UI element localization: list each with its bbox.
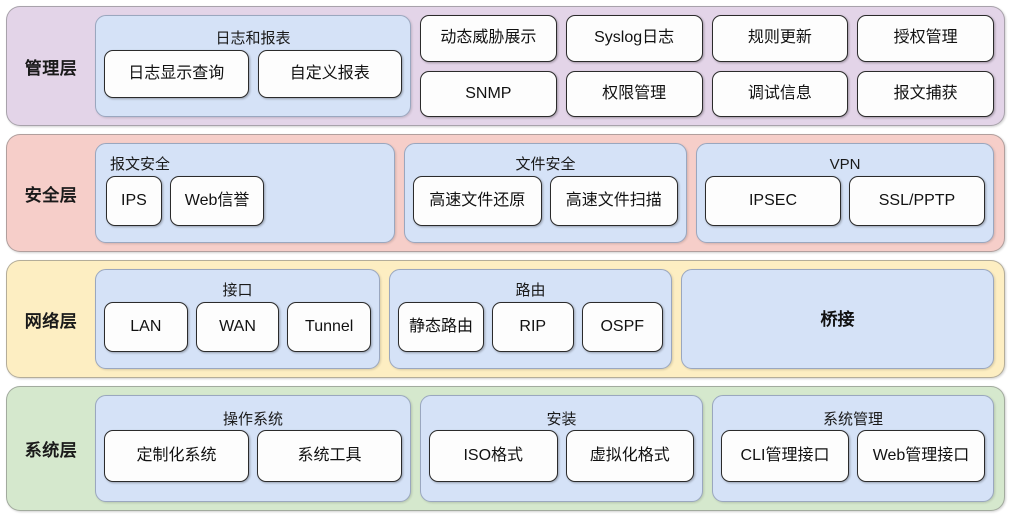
group-title-system-management: 系统管理 [823, 411, 883, 428]
group-title-file-security: 文件安全 [515, 156, 575, 173]
group-items-interface: LAN WAN Tunnel [104, 302, 371, 352]
box-fast-file-restore[interactable]: 高速文件还原 [413, 176, 542, 226]
architecture-diagram: 管理层 日志和报表 日志显示查询 自定义报表 动态威胁展示 SNMP Syslo… [0, 0, 1011, 531]
group-interface: 接口 LAN WAN Tunnel [95, 269, 380, 369]
mgmt-column-3: 规则更新 调试信息 [712, 15, 849, 117]
box-system-tools[interactable]: 系统工具 [257, 430, 402, 482]
group-bridging[interactable]: 桥接 [681, 269, 994, 369]
box-fast-file-scan[interactable]: 高速文件扫描 [550, 176, 679, 226]
box-ssl-pptp[interactable]: SSL/PPTP [849, 176, 985, 226]
group-items-system-management: CLI管理接口 Web管理接口 [721, 430, 985, 482]
group-title-interface: 接口 [222, 282, 252, 299]
layer-label-network: 网络层 [7, 307, 95, 332]
box-dynamic-threat-display[interactable]: 动态威胁展示 [420, 15, 557, 62]
box-ipsec[interactable]: IPSEC [705, 176, 841, 226]
box-snmp[interactable]: SNMP [420, 71, 557, 118]
group-items-packet-security: IPS Web信誉 [106, 176, 386, 226]
group-items-installation: ISO格式 虚拟化格式 [429, 430, 694, 482]
box-custom-report[interactable]: 自定义报表 [258, 50, 403, 98]
group-title-vpn: VPN [830, 156, 861, 173]
group-title-installation: 安装 [546, 411, 576, 428]
group-items-operating-system: 定制化系统 系统工具 [104, 430, 402, 482]
group-vpn: VPN IPSEC SSL/PPTP [696, 143, 994, 243]
box-log-display-query[interactable]: 日志显示查询 [104, 50, 249, 98]
box-virtualization-format[interactable]: 虚拟化格式 [566, 430, 695, 482]
layer-body-management: 日志和报表 日志显示查询 自定义报表 动态威胁展示 SNMP Syslog日志 … [95, 15, 994, 117]
layer-label-security: 安全层 [7, 181, 95, 206]
box-ips[interactable]: IPS [106, 176, 162, 226]
box-permission-management[interactable]: 权限管理 [566, 71, 703, 118]
group-title-operating-system: 操作系统 [223, 411, 283, 428]
layer-label-management: 管理层 [7, 54, 95, 79]
box-web-management-interface[interactable]: Web管理接口 [857, 430, 985, 482]
box-ospf[interactable]: OSPF [582, 302, 664, 352]
box-static-route[interactable]: 静态路由 [398, 302, 484, 352]
group-installation: 安装 ISO格式 虚拟化格式 [420, 395, 703, 502]
mgmt-column-2: Syslog日志 权限管理 [566, 15, 703, 117]
layer-body-network: 接口 LAN WAN Tunnel 路由 静态路由 RIP OSPF 桥接 [95, 269, 994, 369]
layer-body-system: 操作系统 定制化系统 系统工具 安装 ISO格式 虚拟化格式 系统管理 CLI管… [95, 395, 994, 502]
box-license-management[interactable]: 授权管理 [857, 15, 994, 62]
group-file-security: 文件安全 高速文件还原 高速文件扫描 [404, 143, 687, 243]
group-packet-security: 报文安全 IPS Web信誉 [95, 143, 395, 243]
group-system-management: 系统管理 CLI管理接口 Web管理接口 [712, 395, 994, 502]
layer-body-security: 报文安全 IPS Web信誉 文件安全 高速文件还原 高速文件扫描 VPN IP… [95, 143, 994, 243]
group-title-packet-security: 报文安全 [110, 156, 170, 173]
box-syslog[interactable]: Syslog日志 [566, 15, 703, 62]
layer-network: 网络层 接口 LAN WAN Tunnel 路由 静态路由 RIP OSPF [6, 260, 1005, 378]
mgmt-column-1: 动态威胁展示 SNMP [420, 15, 557, 117]
box-packet-capture[interactable]: 报文捕获 [857, 71, 994, 118]
box-web-reputation[interactable]: Web信誉 [170, 176, 265, 226]
box-rule-update[interactable]: 规则更新 [712, 15, 849, 62]
group-items-log-and-report: 日志显示查询 自定义报表 [104, 50, 402, 98]
layer-security: 安全层 报文安全 IPS Web信誉 文件安全 高速文件还原 高速文件扫描 VP… [6, 134, 1005, 252]
box-cli-management-interface[interactable]: CLI管理接口 [721, 430, 849, 482]
box-rip[interactable]: RIP [492, 302, 574, 352]
layer-label-system: 系统层 [7, 436, 95, 461]
box-lan[interactable]: LAN [104, 302, 188, 352]
group-items-vpn: IPSEC SSL/PPTP [705, 176, 985, 226]
group-items-routing: 静态路由 RIP OSPF [398, 302, 663, 352]
box-wan[interactable]: WAN [196, 302, 280, 352]
box-iso-format[interactable]: ISO格式 [429, 430, 558, 482]
mgmt-column-4: 授权管理 报文捕获 [857, 15, 994, 117]
box-tunnel[interactable]: Tunnel [287, 302, 371, 352]
group-title-log-and-report: 日志和报表 [215, 30, 290, 47]
group-operating-system: 操作系统 定制化系统 系统工具 [95, 395, 411, 502]
group-log-and-report: 日志和报表 日志显示查询 自定义报表 [95, 15, 411, 117]
group-items-file-security: 高速文件还原 高速文件扫描 [413, 176, 678, 226]
group-routing: 路由 静态路由 RIP OSPF [389, 269, 672, 369]
box-customized-system[interactable]: 定制化系统 [104, 430, 249, 482]
group-title-bridging: 桥接 [821, 305, 855, 330]
box-debug-info[interactable]: 调试信息 [712, 71, 849, 118]
layer-system: 系统层 操作系统 定制化系统 系统工具 安装 ISO格式 虚拟化格式 系统管理 [6, 386, 1005, 511]
group-title-routing: 路由 [515, 282, 545, 299]
layer-management: 管理层 日志和报表 日志显示查询 自定义报表 动态威胁展示 SNMP Syslo… [6, 6, 1005, 126]
